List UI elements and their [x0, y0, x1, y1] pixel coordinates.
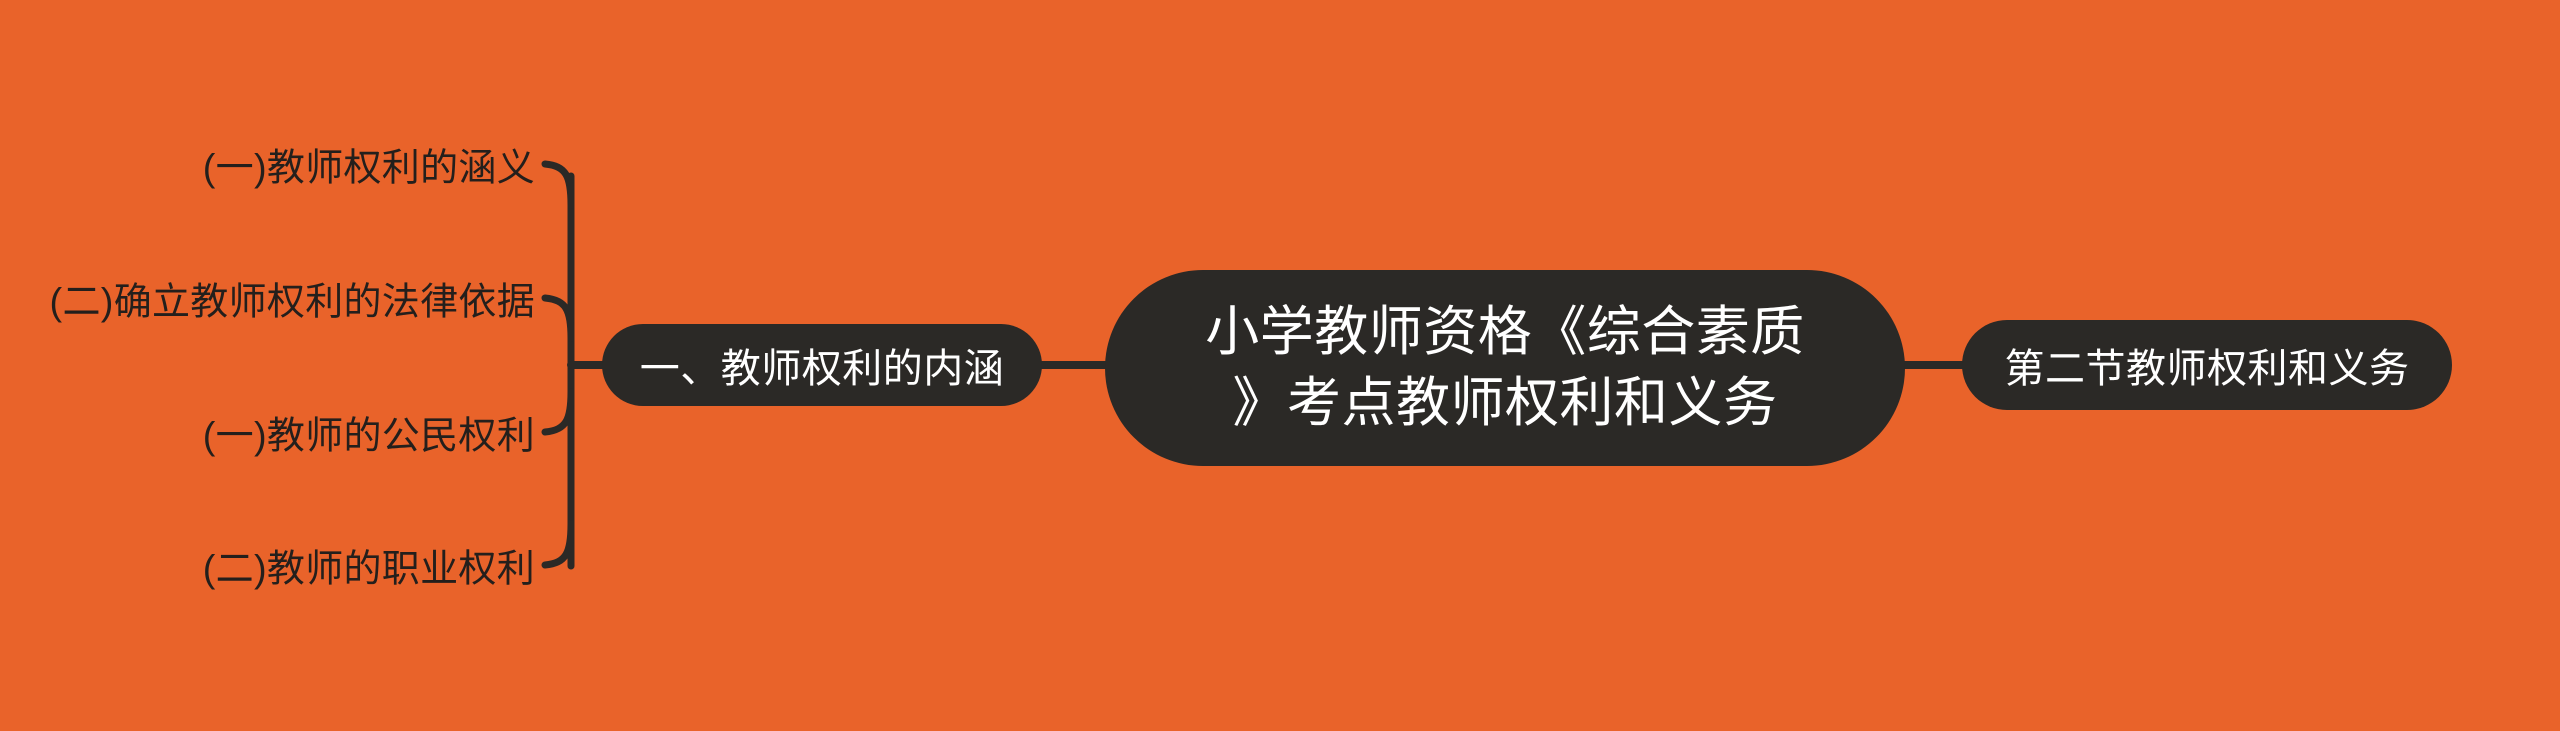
- connector-leaf-2: [545, 298, 571, 338]
- root-node[interactable]: 小学教师资格《综合素质 》考点教师权利和义务: [1105, 270, 1905, 466]
- mind-map-canvas: 小学教师资格《综合素质 》考点教师权利和义务 一、教师权利的内涵 第二节教师权利…: [0, 0, 2560, 731]
- leaf-node-2[interactable]: (二)确立教师权利的法律依据: [49, 271, 535, 326]
- branch-node-section-two[interactable]: 第二节教师权利和义务: [1962, 320, 2452, 410]
- connector-leaf-4: [545, 524, 571, 565]
- leaf-node-3[interactable]: (一)教师的公民权利: [203, 405, 535, 460]
- leaf-node-4[interactable]: (二)教师的职业权利: [203, 538, 535, 593]
- connector-leaf-3: [545, 392, 571, 432]
- connector-leaf-1: [545, 164, 571, 205]
- leaf-node-1[interactable]: (一)教师权利的涵义: [203, 137, 535, 192]
- branch-node-teacher-rights-connotation[interactable]: 一、教师权利的内涵: [602, 324, 1042, 406]
